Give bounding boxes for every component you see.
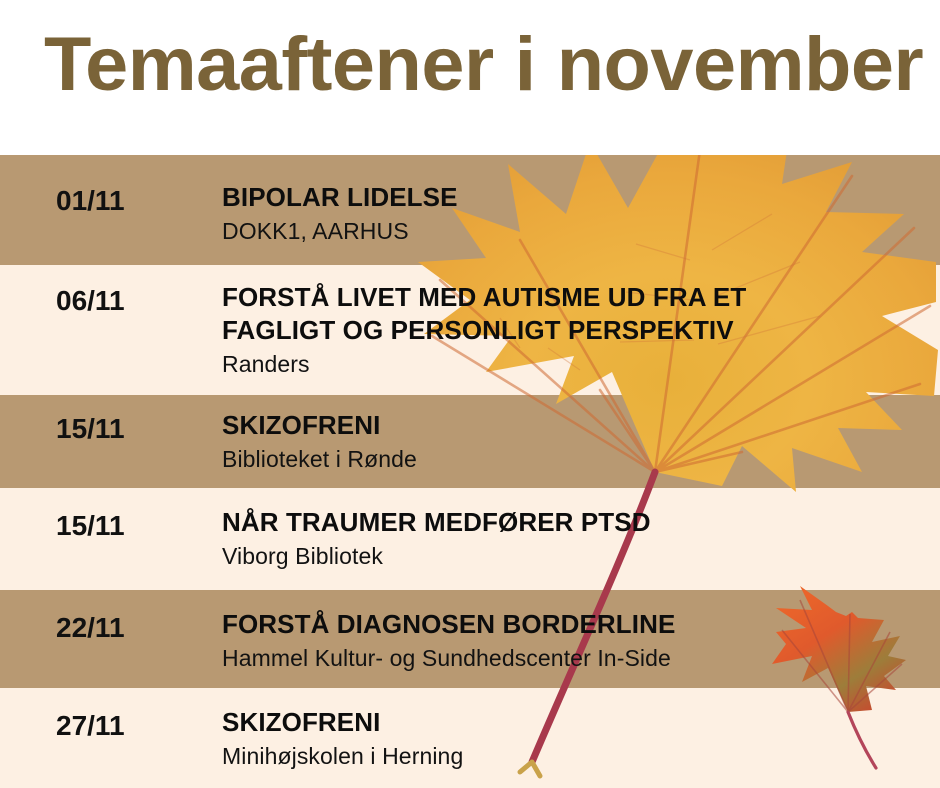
list-item[interactable]: 01/11 BIPOLAR LIDELSE DOKK1, AARHUS bbox=[0, 155, 940, 265]
poster-canvas: Temaaftener i november 01/11 BIPOLAR LID… bbox=[0, 0, 940, 788]
event-title: SKIZOFRENI bbox=[222, 706, 922, 739]
event-body: NÅR TRAUMER MEDFØRER PTSD Viborg Bibliot… bbox=[222, 506, 922, 571]
event-title: SKIZOFRENI bbox=[222, 409, 922, 442]
event-title: NÅR TRAUMER MEDFØRER PTSD bbox=[222, 506, 922, 539]
event-body: FORSTÅ DIAGNOSEN BORDERLINE Hammel Kultu… bbox=[222, 608, 922, 673]
page-title: Temaaftener i november bbox=[44, 24, 921, 106]
event-venue: DOKK1, AARHUS bbox=[222, 216, 922, 246]
event-date: 22/11 bbox=[56, 612, 196, 644]
event-title: BIPOLAR LIDELSE bbox=[222, 181, 922, 214]
event-venue: Randers bbox=[222, 349, 922, 379]
list-item[interactable]: 06/11 FORSTÅ LIVET MED AUTISME UD FRA ET… bbox=[0, 265, 940, 395]
list-item[interactable]: 15/11 NÅR TRAUMER MEDFØRER PTSD Viborg B… bbox=[0, 488, 940, 590]
event-body: FORSTÅ LIVET MED AUTISME UD FRA ET FAGLI… bbox=[222, 281, 922, 379]
event-date: 01/11 bbox=[56, 185, 196, 217]
event-date: 15/11 bbox=[56, 510, 196, 542]
event-date: 27/11 bbox=[56, 710, 196, 742]
event-date: 15/11 bbox=[56, 413, 196, 445]
list-item[interactable]: 22/11 FORSTÅ DIAGNOSEN BORDERLINE Hammel… bbox=[0, 590, 940, 688]
event-body: SKIZOFRENI Minihøjskolen i Herning bbox=[222, 706, 922, 771]
poster-header: Temaaftener i november bbox=[0, 0, 940, 155]
event-body: SKIZOFRENI Biblioteket i Rønde bbox=[222, 409, 922, 474]
list-item[interactable]: 27/11 SKIZOFRENI Minihøjskolen i Herning bbox=[0, 688, 940, 788]
list-item[interactable]: 15/11 SKIZOFRENI Biblioteket i Rønde bbox=[0, 395, 940, 488]
event-title: FORSTÅ LIVET MED AUTISME UD FRA ET FAGLI… bbox=[222, 281, 922, 347]
event-venue: Viborg Bibliotek bbox=[222, 541, 922, 571]
event-venue: Hammel Kultur- og Sundhedscenter In-Side bbox=[222, 643, 922, 673]
event-title: FORSTÅ DIAGNOSEN BORDERLINE bbox=[222, 608, 922, 641]
event-venue: Minihøjskolen i Herning bbox=[222, 741, 922, 771]
event-body: BIPOLAR LIDELSE DOKK1, AARHUS bbox=[222, 181, 922, 246]
event-date: 06/11 bbox=[56, 285, 196, 317]
event-venue: Biblioteket i Rønde bbox=[222, 444, 922, 474]
